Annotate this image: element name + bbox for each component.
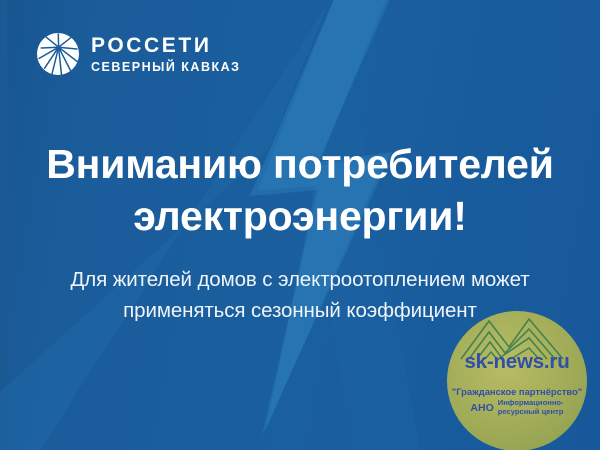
- rossetti-sun-emblem-icon: [36, 32, 80, 76]
- sk-news-watermark: sk-news.ru "Гражданское партнёрство" АНО…: [447, 311, 587, 450]
- watermark-org-row: АНО Информационно- ресурсный центр: [447, 399, 587, 416]
- watermark-org-form: АНО: [470, 402, 493, 414]
- subtitle-line-1: Для жителей домов с электроотоплением мо…: [0, 264, 600, 295]
- mountains-icon: [447, 311, 587, 450]
- watermark-domain: sk-news.ru: [447, 351, 587, 373]
- rossetti-logo: РОССЕТИ СЕВЕРНЫЙ КАВКАЗ: [36, 32, 240, 76]
- headline-line-2: электроэнергии!: [0, 190, 600, 242]
- announcement-banner: РОССЕТИ СЕВЕРНЫЙ КАВКАЗ Вниманию потреби…: [0, 0, 600, 450]
- watermark-org-quoted: "Гражданское партнёрство": [447, 386, 587, 397]
- headline-line-1: Вниманию потребителей: [0, 138, 600, 190]
- logo-company-name: РОССЕТИ: [91, 34, 240, 57]
- logo-wordmark: РОССЕТИ СЕВЕРНЫЙ КАВКАЗ: [91, 33, 240, 76]
- watermark-org-center-line-2: ресурсный центр: [498, 408, 564, 417]
- logo-region-name: СЕВЕРНЫЙ КАВКАЗ: [91, 59, 240, 76]
- message-block: Вниманию потребителей электроэнергии! Дл…: [0, 138, 600, 326]
- watermark-org-center: Информационно- ресурсный центр: [498, 399, 564, 416]
